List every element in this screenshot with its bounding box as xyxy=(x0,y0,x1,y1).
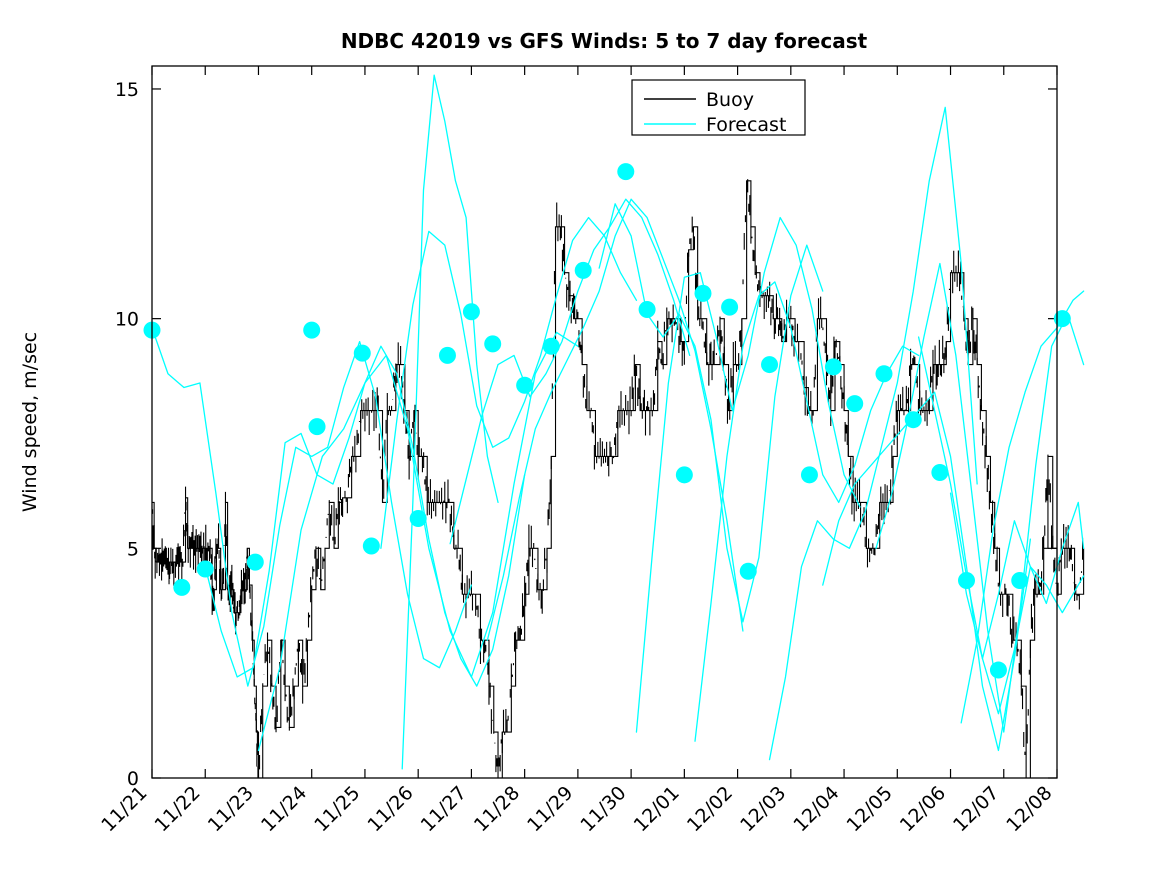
figure-canvas: NDBC 42019 vs GFS Winds: 5 to 7 day fore… xyxy=(0,0,1167,875)
series-line-forecast-8 xyxy=(636,218,860,732)
chart-title: NDBC 42019 vs GFS Winds: 5 to 7 day fore… xyxy=(341,29,868,53)
forecast-marker xyxy=(694,285,711,302)
forecast-marker xyxy=(575,262,592,279)
forecast-marker xyxy=(639,301,656,318)
legend-label-buoy: Buoy xyxy=(706,89,754,111)
forecast-marker xyxy=(846,395,863,412)
chart-legend[interactable]: Buoy Forecast xyxy=(632,80,805,136)
forecast-marker xyxy=(173,579,190,596)
y-axis-ticks: 051015 xyxy=(115,79,1057,790)
forecast-marker xyxy=(543,338,560,355)
series-line-forecast-14 xyxy=(961,291,1083,723)
forecast-marker xyxy=(197,560,214,577)
forecast-marker xyxy=(801,466,818,483)
x-tick-label: 11/30 xyxy=(576,782,630,836)
series-line-forecast-3 xyxy=(402,75,498,769)
y-tick-label: 5 xyxy=(127,538,139,560)
series-line-forecast-4 xyxy=(381,218,637,549)
x-tick-label: 11/27 xyxy=(417,782,471,836)
x-tick-label: 11/24 xyxy=(257,782,311,836)
forecast-marker xyxy=(247,554,264,571)
forecast-marker xyxy=(905,411,922,428)
x-tick-label: 11/22 xyxy=(150,782,204,836)
y-axis-label: Wind speed, m/sec xyxy=(19,332,41,512)
x-tick-label: 12/02 xyxy=(683,782,737,836)
chart-svg: NDBC 42019 vs GFS Winds: 5 to 7 day fore… xyxy=(0,0,1167,875)
y-tick-label: 10 xyxy=(115,309,139,331)
forecast-marker xyxy=(516,377,533,394)
forecast-marker xyxy=(931,464,948,481)
forecast-marker xyxy=(617,163,634,180)
x-tick-label: 12/07 xyxy=(949,782,1003,836)
series-line-forecast-10 xyxy=(770,107,978,759)
x-tick-label: 11/26 xyxy=(363,782,417,836)
forecast-marker xyxy=(825,358,842,375)
forecast-marker xyxy=(721,299,738,316)
x-axis-ticks: 11/2111/2211/2311/2411/2511/2611/2711/28… xyxy=(97,66,1057,836)
x-tick-label: 12/08 xyxy=(1002,782,1056,836)
x-tick-label: 12/03 xyxy=(736,782,790,836)
series-line-forecast-6 xyxy=(487,199,743,640)
forecast-marker xyxy=(309,418,326,435)
x-tick-label: 12/01 xyxy=(630,782,684,836)
forecast-marker xyxy=(1011,572,1028,589)
x-tick-label: 12/05 xyxy=(843,782,897,836)
x-tick-label: 12/04 xyxy=(789,782,843,836)
forecast-marker xyxy=(484,335,501,352)
forecast-marker xyxy=(990,662,1007,679)
x-tick-label: 11/29 xyxy=(523,782,577,836)
data-series-group xyxy=(152,75,1084,778)
x-tick-label: 11/28 xyxy=(470,782,524,836)
forecast-marker xyxy=(875,365,892,382)
x-tick-label: 11/23 xyxy=(204,782,258,836)
y-tick-label: 15 xyxy=(115,79,139,101)
series-line-forecast-7 xyxy=(599,204,823,622)
forecast-marker xyxy=(740,563,757,580)
x-tick-label: 12/06 xyxy=(896,782,950,836)
forecast-marker xyxy=(761,356,778,373)
forecast-marker xyxy=(676,466,693,483)
series-line-forecast-9 xyxy=(695,282,919,741)
forecast-marker xyxy=(354,345,371,362)
forecast-marker xyxy=(303,322,320,339)
series-line-forecast-13 xyxy=(919,337,1084,714)
forecast-marker xyxy=(439,347,456,364)
forecast-marker xyxy=(410,510,427,527)
forecast-marker xyxy=(958,572,975,589)
forecast-marker xyxy=(363,538,380,555)
x-tick-label: 11/21 xyxy=(97,782,151,836)
forecast-marker xyxy=(463,303,480,320)
legend-label-forecast: Forecast xyxy=(706,114,786,136)
x-tick-label: 11/25 xyxy=(310,782,364,836)
